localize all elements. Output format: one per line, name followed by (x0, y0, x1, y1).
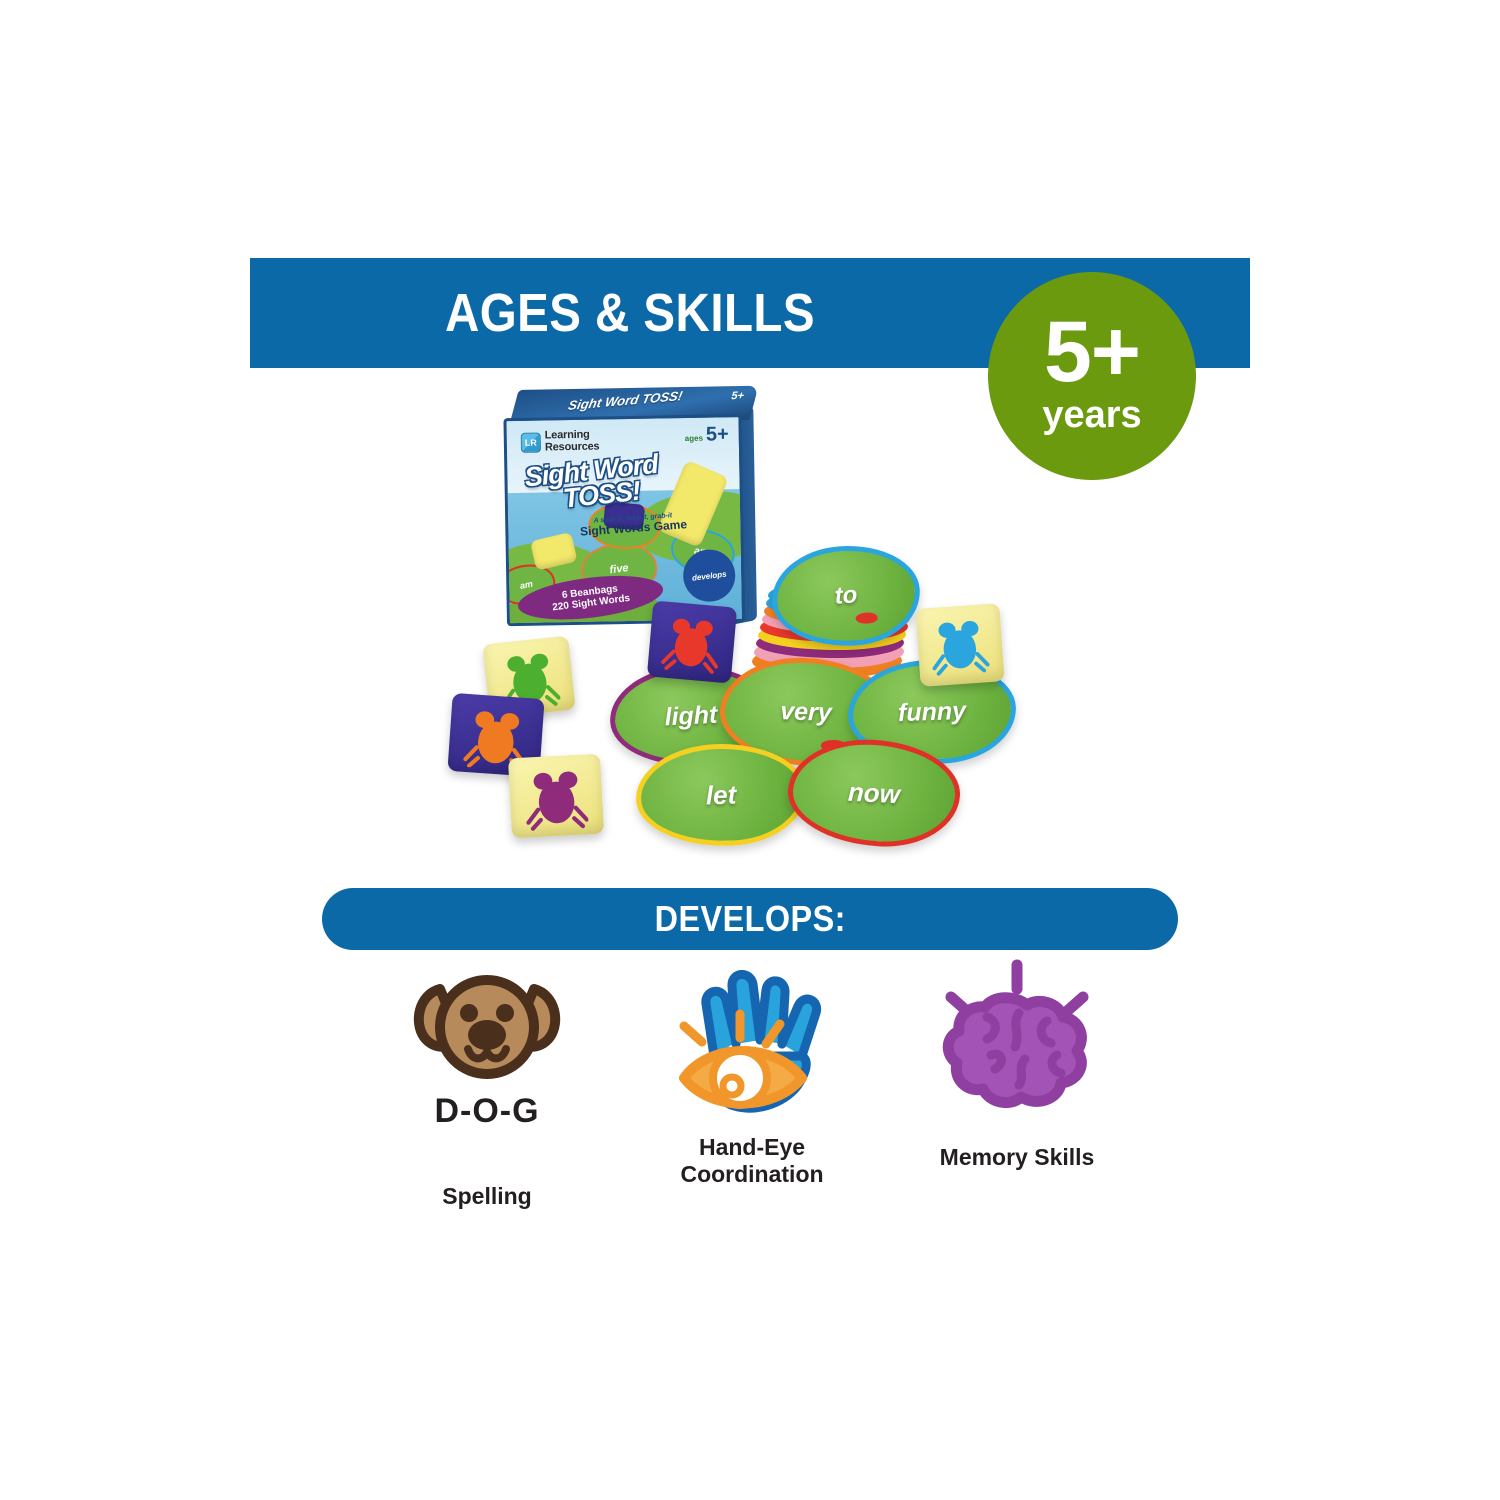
beanbag-yellow-blue-frog (915, 603, 1004, 687)
develops-heading: DEVELOPS: (654, 898, 845, 940)
box-age-value: 5+ (706, 423, 729, 446)
frog-print-icon (930, 615, 991, 676)
box-lid-title: Sight Word TOSS! (567, 388, 684, 413)
skill-label-hand-eye-line1: Hand-Eye (622, 1134, 882, 1161)
skill-label-hand-eye-line2: Coordination (622, 1161, 882, 1188)
box-lid-age: 5+ (730, 390, 746, 402)
box-art-lilypad-word: am (519, 579, 534, 591)
dog-face-icon-wrap (362, 965, 612, 1090)
box-art-lilypad-word: five (609, 562, 629, 576)
lilypad-word: let (705, 779, 736, 811)
hand-eye-icon-wrap (622, 960, 882, 1140)
lilypad-word: funny (897, 696, 966, 727)
lilypad-word: light (664, 700, 718, 732)
hand-eye-icon (662, 960, 842, 1140)
develops-banner: DEVELOPS: (322, 888, 1178, 950)
brand-name: Learning Resources (545, 430, 600, 454)
frog-print-icon (523, 766, 589, 832)
skills-row: D-O-G Spelling (322, 965, 1178, 1245)
skill-hand-eye: Hand-Eye Coordination (622, 960, 882, 1188)
lilypad-word: now (847, 776, 901, 810)
skill-label-memory: Memory Skills (882, 1144, 1152, 1171)
learning-resources-cube-icon (521, 432, 541, 452)
skill-spelling: D-O-G Spelling (362, 965, 612, 1210)
infographic-page: AGES & SKILLS 5+ years Sight Word TOSS! … (0, 0, 1500, 1500)
skill-label-spelling: Spelling (362, 1183, 612, 1210)
dog-face-icon (402, 965, 572, 1090)
box-front-face: five any am Learning Resources (503, 414, 745, 626)
beanbag-yellow-purple-frog (508, 754, 604, 839)
brain-icon (925, 955, 1110, 1140)
frog-print-icon (661, 612, 723, 674)
lilypad-word: very (780, 697, 832, 728)
brand-logo: Learning Resources (521, 430, 600, 454)
skill-label-hand-eye: Hand-Eye Coordination (622, 1134, 882, 1188)
skill-memory: Memory Skills (882, 955, 1152, 1171)
beanbag-purple-red-frog (647, 600, 737, 683)
page-title: AGES & SKILLS (296, 258, 965, 368)
lilypad-red-dot (856, 612, 879, 624)
brand-name-line2: Resources (545, 441, 600, 453)
box-age-marker: ages 5+ (685, 423, 729, 447)
product-box: Sight Word TOSS! 5+ five any am (503, 386, 755, 628)
product-photo: Sight Word TOSS! 5+ five any am (440, 378, 1060, 848)
box-age-label: ages (685, 434, 703, 443)
brain-icon-wrap (882, 955, 1152, 1140)
lilypad-word: to (834, 581, 859, 611)
spelling-overlay-text: D-O-G (362, 1092, 612, 1131)
